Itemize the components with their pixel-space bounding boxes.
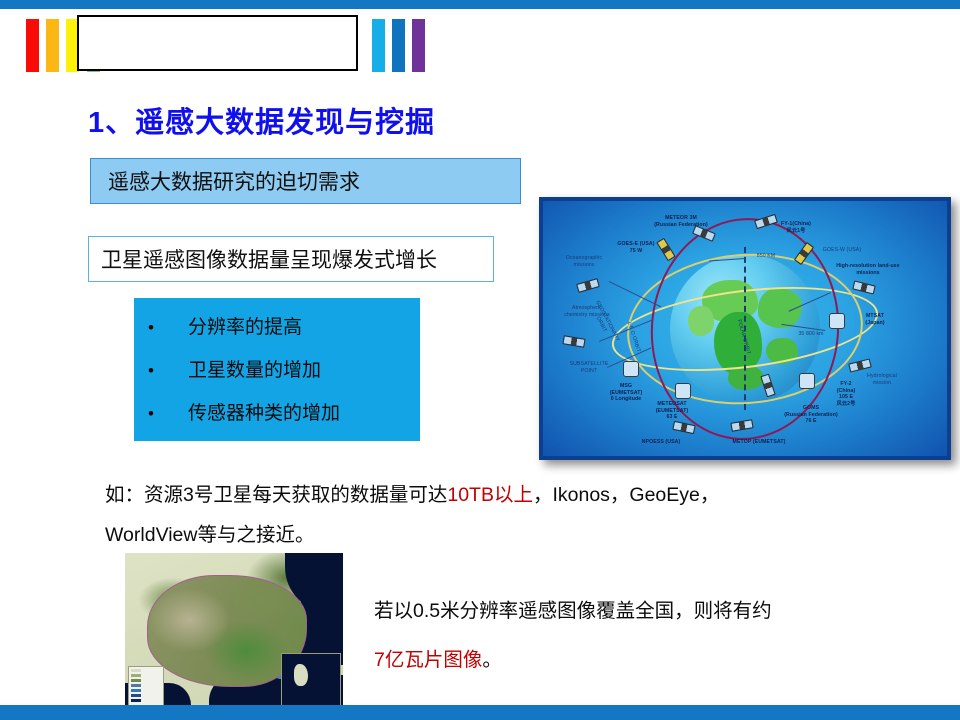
bullet-dot-icon: •: [148, 362, 174, 379]
bullet-label: 卫星数量的增加: [174, 355, 321, 382]
bullet-dot-icon: •: [148, 319, 174, 336]
satellite-icon-atmospheric-chem: [562, 335, 585, 348]
list-item: • 分辨率的提高: [134, 312, 420, 355]
body-line-4-highlight: 7亿瓦片图像: [374, 649, 482, 671]
label-mtsat-japan: MTSAT (Japan): [849, 313, 901, 326]
label-oceanographic-missions: Oceanographic missions: [553, 255, 615, 268]
label-msg-eumetsat: MSG (EUMETSAT) 0 Longitude: [593, 383, 659, 403]
label-metop-eumetsat: METOP (EUMETSAT): [713, 439, 805, 446]
satellite-icon-hydrological: [848, 358, 872, 372]
body-line-1-prefix: 如：资源3号卫星每天获取的数据量可达: [105, 484, 447, 506]
bullet-label: 分辨率的提高: [174, 312, 302, 339]
subheading-box-label: 卫星遥感图像数据量呈现爆发式增长: [101, 244, 437, 274]
satellite-icon-oceanographic: [576, 278, 600, 293]
label-fy-1-china: FY-1(China) 风云1号: [765, 221, 827, 234]
body-line-4: 7亿瓦片图像。: [374, 643, 502, 672]
body-line-4-suffix: 。: [482, 649, 502, 671]
satellite-constellation-image: METEOR 3M (Russian Federation) FY-1(Chin…: [539, 197, 951, 460]
body-line-2: WorldView等与之接近。: [105, 518, 314, 547]
list-item: • 卫星数量的增加: [134, 355, 420, 398]
satellite-icon-meteosat: [675, 383, 691, 399]
body-line-1-highlight: 10TB以上: [447, 484, 533, 506]
label-geostationary-orbit: GEOSTATIONARY ORBIT: [586, 295, 624, 351]
top-accent-bar: [0, 0, 960, 9]
bottom-accent-bar: [0, 705, 960, 720]
body-line-3: 若以0.5米分辨率遥感图像覆盖全国，则将有约: [374, 594, 772, 623]
label-meteor-3m: METEOR 3M (Russian Federation): [639, 215, 723, 228]
map-legend: [128, 666, 164, 706]
label-meteosat-eumetsat: METEOSAT (EUMETSAT) 63 E: [639, 401, 705, 421]
page-title: 1、遥感大数据发现与挖掘: [88, 99, 435, 141]
map-inset-south-china-sea: [281, 653, 341, 707]
stripe-purple: [412, 19, 425, 72]
heading-box-label: 遥感大数据研究的迫切需求: [108, 166, 360, 196]
stripe-red: [26, 19, 39, 72]
slide-canvas: 1、遥感大数据发现与挖掘 遥感大数据研究的迫切需求 卫星遥感图像数据量呈现爆发式…: [0, 0, 960, 720]
header-title-placeholder-box: [77, 15, 358, 71]
bullet-panel: • 分辨率的提高 • 卫星数量的增加 • 传感器种类的增加: [134, 298, 420, 441]
stripe-blue: [392, 19, 405, 72]
bullet-label: 传感器种类的增加: [174, 398, 340, 425]
satellite-icon-fy-2: [799, 373, 815, 389]
satellite-icon-msg: [623, 361, 639, 377]
label-npoess-usa: NPOESS (USA): [623, 439, 699, 446]
satellite-icon-high-res-land-use: [852, 280, 876, 294]
label-high-resolution-land-use: High-resolution land-use missions: [821, 263, 915, 276]
stripe-cyan: [372, 19, 385, 72]
body-line-1-suffix: ，Ikonos，GeoEye，: [533, 484, 719, 506]
satellite-diagram-canvas: METEOR 3M (Russian Federation) FY-1(Chin…: [543, 201, 947, 456]
heading-box: 遥感大数据研究的迫切需求: [90, 158, 521, 204]
body-line-1: 如：资源3号卫星每天获取的数据量可达10TB以上，Ikonos，GeoEye，: [105, 478, 719, 507]
label-altitude-35800km: 35 800 km: [789, 331, 833, 338]
china-satellite-map-image: [125, 553, 343, 709]
stripe-orange: [46, 19, 59, 72]
label-goes-w-usa: GOES-W (USA): [807, 247, 877, 254]
label-goes-e-usa: GOES-E (USA) 75 W: [605, 241, 667, 254]
label-subsatellite-point: SUBSATELLITE POINT: [561, 361, 617, 374]
satellite-icon-mtsat: [829, 313, 845, 329]
label-atmospheric-chemistry: Atmospheric chemistry missions: [551, 305, 623, 318]
label-goms-russia: GOMS (Russian Federation) 76 E: [771, 405, 851, 425]
label-fy-2-china: FY-2 (China) 105 E 风云2号: [821, 381, 871, 407]
subheading-box: 卫星遥感图像数据量呈现爆发式增长: [88, 236, 494, 282]
label-altitude-850km: 850 KM: [749, 253, 783, 260]
list-item: • 传感器种类的增加: [134, 398, 420, 441]
bullet-dot-icon: •: [148, 405, 174, 422]
